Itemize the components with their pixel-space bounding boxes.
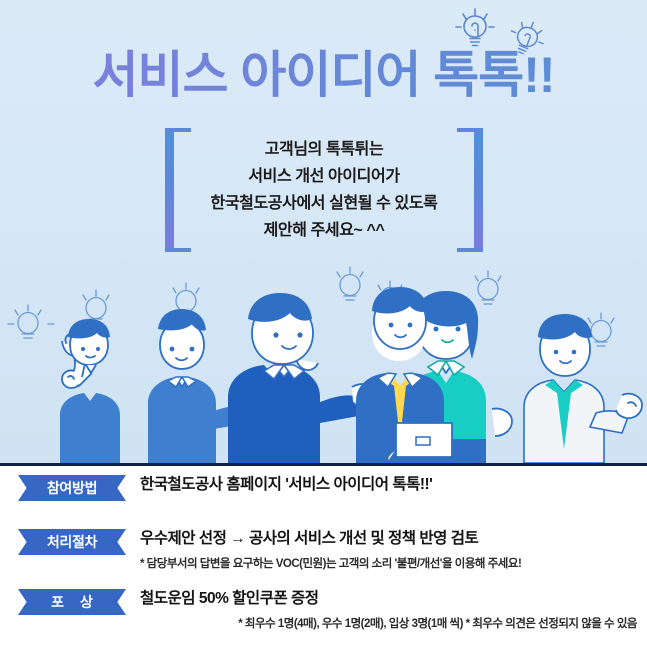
tag-reward: 포 상	[18, 589, 126, 615]
subtitle-line: 한국철도공사에서 실현될 수 있도록	[211, 191, 438, 216]
tag-cell: 처리절차	[0, 527, 140, 574]
row-main-text: 한국철도공사 홈페이지 '서비스 아이디어 톡톡!!'	[140, 473, 641, 497]
lightbulb-icon	[337, 267, 363, 300]
promo-banner: 서비스 아이디어 톡톡!! 고객님의 톡톡튀는 서비스 개선 아이디어가 한국철…	[0, 0, 647, 647]
text-cell: 한국철도공사 홈페이지 '서비스 아이디어 톡톡!!'	[140, 473, 647, 501]
hero-section: 서비스 아이디어 톡톡!! 고객님의 톡톡튀는 서비스 개선 아이디어가 한국철…	[0, 0, 647, 466]
tag-cell: 참여방법	[0, 473, 140, 501]
banner-title: 서비스 아이디어 톡톡!!	[0, 42, 647, 108]
info-row: 참여방법 한국철도공사 홈페이지 '서비스 아이디어 톡톡!!'	[0, 473, 647, 501]
tag-process-procedure: 처리절차	[18, 529, 126, 555]
lightbulb-icon	[588, 313, 614, 346]
info-row: 포 상 철도운임 50% 할인쿠폰 증정 * 최우수 1명(4매), 우수 1명…	[0, 587, 647, 634]
info-row: 처리절차 우수제안 선정 → 공사의 서비스 개선 및 정책 반영 검토 * 담…	[0, 527, 647, 574]
row-main-text: 철도운임 50% 할인쿠폰 증정	[140, 587, 641, 611]
subtitle-line: 서비스 개선 아이디어가	[248, 164, 399, 189]
tag-cell: 포 상	[0, 587, 140, 634]
person-figure	[524, 314, 642, 463]
info-section: 참여방법 한국철도공사 홈페이지 '서비스 아이디어 톡톡!!' 처리절차 우수…	[0, 466, 647, 647]
lightbulb-icon	[83, 290, 109, 323]
tag-participation-method: 참여방법	[18, 475, 126, 501]
text-cell: 철도운임 50% 할인쿠폰 증정 * 최우수 1명(4매), 우수 1명(2매)…	[140, 587, 647, 634]
person-figure	[60, 319, 120, 463]
subtitle-line: 제안해 주세요~ ^^	[264, 218, 385, 243]
row-note-text: * 최우수 1명(4매), 우수 1명(2매), 입상 3명(1매 씩) * 최…	[140, 614, 641, 634]
subtitle-line: 고객님의 톡톡튀는	[265, 137, 384, 162]
row-note-text: * 담당부서의 답변을 요구하는 VOC(민원)는 고객의 소리 '불편/개선'…	[140, 554, 641, 574]
subtitle-block: 고객님의 톡톡튀는 서비스 개선 아이디어가 한국철도공사에서 실현될 수 있도…	[165, 128, 483, 252]
lightbulb-icon	[475, 271, 501, 304]
row-main-text: 우수제안 선정 → 공사의 서비스 개선 및 정책 반영 검토	[140, 527, 641, 551]
people-illustration: .ln { fill:none; stroke:#2f6fc4; stroke-…	[0, 263, 647, 463]
lightbulb-icon	[8, 305, 54, 338]
subtitle-lines: 고객님의 톡톡튀는 서비스 개선 아이디어가 한국철도공사에서 실현될 수 있도…	[165, 132, 483, 248]
text-cell: 우수제안 선정 → 공사의 서비스 개선 및 정책 반영 검토 * 담당부서의 …	[140, 527, 647, 574]
